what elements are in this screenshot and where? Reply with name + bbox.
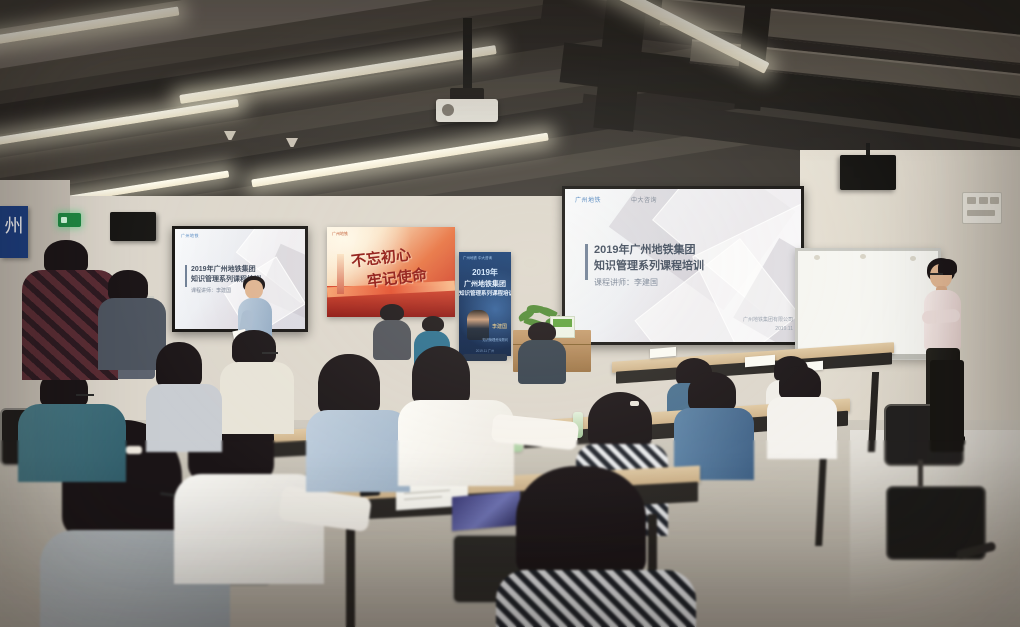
attendee-legs xyxy=(930,360,964,452)
rollup-footer: 2019.11 广州 xyxy=(459,348,511,353)
hair-clip xyxy=(630,401,639,406)
rollup-portrait xyxy=(467,310,489,340)
red-banner-logo: 广州地铁 xyxy=(332,231,348,237)
rollup-speaker-desc: 知识管理资深顾问 xyxy=(483,337,509,342)
slide-logo-sub: 中大咨询 xyxy=(631,195,657,204)
blue-sign-text: 州 xyxy=(0,217,28,236)
rollup-title-1: 广州地铁集团 xyxy=(459,279,511,289)
main-screen-footer-1: 广州地铁集团有限公司 xyxy=(743,317,793,325)
rollup-year: 2019年 xyxy=(459,267,511,278)
hair-clip xyxy=(126,446,142,454)
glasses xyxy=(262,352,278,357)
wall-control-panel[interactable] xyxy=(962,192,1002,224)
main-screen-footer-2: 2019.11 xyxy=(775,326,793,334)
slide-logo-left: 广州地铁 xyxy=(181,233,199,239)
main-screen-title-2: 知识管理系列课程培训 xyxy=(594,259,704,274)
sprinkler-head xyxy=(286,138,298,147)
classroom-photo: 州 广州地铁 2019年广州地铁集团 知识管理系列课程培训 课程讲师：李建国 xyxy=(0,0,1020,627)
wall-speaker-right xyxy=(840,155,896,190)
left-screen-title-1: 2019年广州地铁集团 xyxy=(191,265,256,274)
rollup-speaker-name: 李建国 xyxy=(492,323,507,330)
glasses xyxy=(930,273,943,278)
projector-pole xyxy=(463,18,472,92)
glasses xyxy=(76,394,94,399)
main-screen-title-1: 2019年广州地铁集团 xyxy=(594,243,695,258)
blue-wall-sign: 州 xyxy=(0,206,28,258)
left-screen-subtitle: 课程讲师：李建国 xyxy=(191,287,231,294)
wall-speaker-left xyxy=(110,212,156,241)
exit-sign xyxy=(58,213,81,227)
projection-screen-main: 广州地铁 中大咨询 2019年广州地铁集团 知识管理系列课程培训 课程讲师：李建… xyxy=(562,186,804,345)
rollup-base xyxy=(463,354,507,361)
slide-logo: 广州地铁 xyxy=(575,195,601,204)
rollup-logo: 广州地铁 中大咨询 xyxy=(463,256,492,261)
projector-lens xyxy=(442,104,454,116)
rollup-banner: 广州地铁 中大咨询 2019年 广州地铁集团 知识管理系列课程培训 李建国 知识… xyxy=(459,252,511,356)
course-booklet xyxy=(452,491,520,531)
main-screen-subtitle: 课程讲师：李建国 xyxy=(594,277,658,288)
rollup-title-2: 知识管理系列课程培训 xyxy=(459,289,511,297)
